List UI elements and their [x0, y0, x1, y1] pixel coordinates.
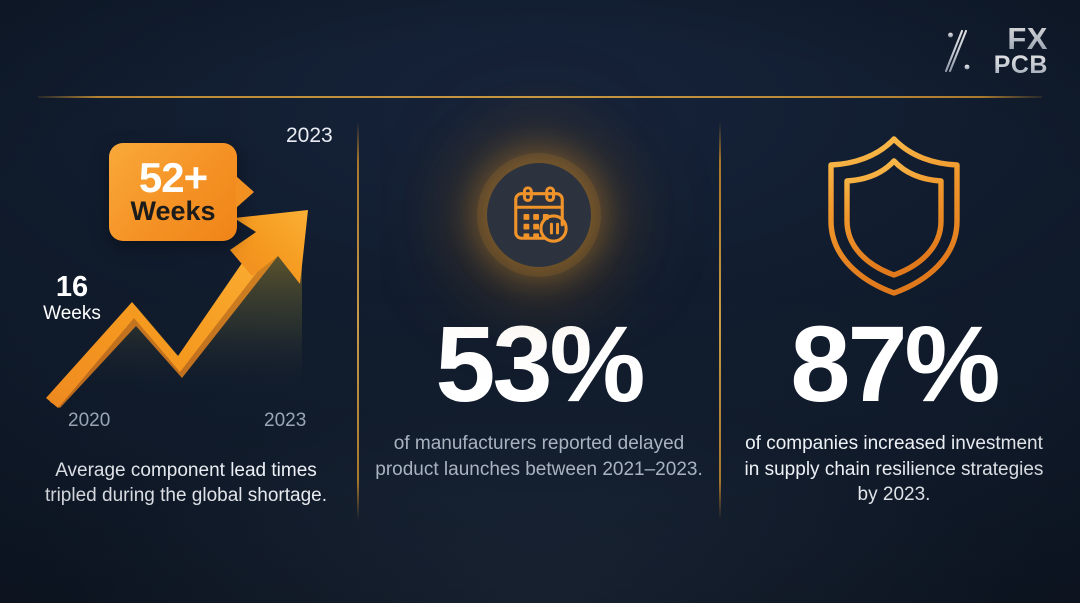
- start-marker: 16 Weeks: [33, 273, 111, 326]
- circuit-trace-mark-icon: [928, 25, 990, 77]
- infographic-canvas: FX PCB: [0, 0, 1080, 603]
- icon-glow-circle: [487, 163, 591, 267]
- growth-arrow-chart: 52+ Weeks 16 Weeks 2023 2020 2023: [16, 110, 356, 430]
- stat-panel-delayed-launches: 53% of manufacturers reported delayed pr…: [360, 110, 718, 540]
- brand-wordmark: FX PCB: [994, 24, 1048, 78]
- start-marker-value: 16: [33, 273, 111, 302]
- badge-unit: Weeks: [130, 197, 215, 225]
- panel-caption-lead-times: Average component lead times tripled dur…: [16, 458, 356, 509]
- shield-icon: [819, 131, 969, 299]
- calendar-icon-wrap: [360, 110, 718, 320]
- panel-caption-delayed-launches: of manufacturers reported delayed produc…: [360, 431, 718, 482]
- panel-divider-right: [719, 122, 721, 520]
- brand-name-bottom: PCB: [994, 54, 1048, 78]
- badge-value: 52+: [139, 158, 207, 198]
- arrow-tip-year: 2023: [286, 124, 333, 148]
- lead-time-badge: 52+ Weeks: [109, 143, 237, 241]
- axis-label-end: 2023: [264, 410, 306, 432]
- stat-panel-resilience-investment: 87% of companies increased investment in…: [722, 110, 1066, 540]
- panel-divider-left: [357, 122, 359, 520]
- shield-icon-wrap: [722, 110, 1066, 320]
- stat-value-resilience-investment: 87%: [722, 314, 1066, 413]
- start-marker-unit: Weeks: [33, 302, 111, 326]
- stat-panel-lead-times: 52+ Weeks 16 Weeks 2023 2020 2023 Averag…: [16, 110, 356, 540]
- brand-logo: FX PCB: [928, 24, 1048, 78]
- header-divider: [38, 96, 1042, 98]
- calendar-pause-icon: [508, 184, 570, 246]
- brand-name-top: FX: [1007, 24, 1048, 53]
- stat-value-delayed-launches: 53%: [360, 314, 718, 413]
- axis-label-start: 2020: [68, 410, 110, 432]
- panel-caption-resilience-investment: of companies increased investment in sup…: [722, 431, 1066, 507]
